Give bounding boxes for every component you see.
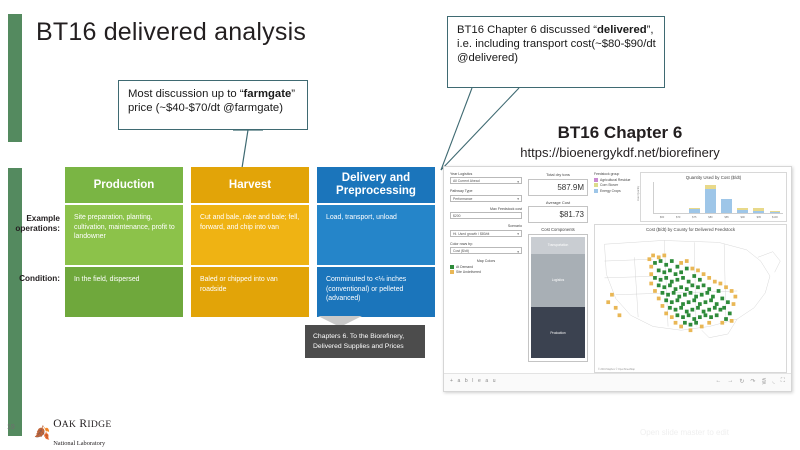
cost-segment-logistics: Logistics — [531, 254, 585, 308]
kpi-title-average-cost: Average Cost — [528, 200, 588, 205]
control-value-max-feedstock-cost: $200 — [453, 214, 461, 218]
bar-$75[interactable]: $75 — [689, 208, 700, 213]
farmgate-callout-pre: Most discussion up to “ — [128, 88, 244, 100]
slide-master-note: Open slide master to edit — [640, 428, 729, 437]
bar-chart-title: Quantity Used by Cost ($/dt) — [641, 173, 786, 180]
cell-delivery-operations: Load, transport, unload — [317, 205, 435, 265]
column-harvest: Harvest Cut and bale, rake and bale; fel… — [191, 167, 309, 317]
cost-segment-label-logistics: Logistics — [552, 278, 564, 282]
cell-production-operations: Site preparation, planting, cultivation,… — [65, 205, 183, 265]
cost-segment-transportation: Transportation — [531, 237, 585, 254]
map-graphic — [597, 233, 784, 343]
feedstock-legend: Feedstock group Agricultural Residue Cor… — [594, 172, 636, 193]
bar-segment-bottom — [753, 211, 764, 213]
kpi-value-total-dry-tons: 587.9M — [528, 179, 588, 196]
quantity-used-by-cost-chart[interactable]: Quantity Used by Cost ($/dt) Used Quanti… — [640, 172, 787, 222]
bar-$80[interactable]: $80 — [705, 185, 716, 213]
leaf-icon: 🍂 — [34, 426, 50, 439]
bar-chart-plot: $60$70$75$80$85$90$95$100 — [653, 182, 783, 214]
dashboard-kpi-column: Total dry tons 587.9M Average Cost $81.7… — [528, 172, 588, 362]
map-title: Cost ($/dt) by County for Delivered Feed… — [595, 225, 786, 232]
bar-$90[interactable]: $90 — [737, 208, 748, 213]
cell-harvest-operations: Cut and bale, rake and bale; fell, forwa… — [191, 205, 309, 265]
feedstock-legend-item-3[interactable]: Energy Crops — [594, 189, 636, 193]
map-color-label-at-demand: At Demand — [456, 265, 473, 269]
feedstock-legend-label-2: Corn Stover — [600, 183, 618, 187]
undo-icon[interactable]: ← — [715, 378, 721, 385]
feedstock-legend-label-3: Energy Crops — [600, 189, 621, 193]
chevron-down-icon: ▾ — [517, 197, 519, 201]
tableau-logo: + a b l e a u — [450, 378, 497, 384]
color-swatch-blue — [594, 189, 598, 193]
cost-components-title: Cost Components — [528, 227, 588, 232]
control-value-scenario: Hi. Used growth / $80/dt — [453, 232, 489, 236]
dashboard-toolbar[interactable]: ← → ↻ ↷ ⋚ ◟ ⛶ — [715, 378, 785, 385]
map-attribution: © 2019 Mapbox © OpenStreetMap — [598, 368, 635, 371]
feedstock-legend-title: Feedstock group — [594, 172, 636, 176]
bar-xtick-label: $100 — [770, 216, 781, 219]
fullscreen-icon[interactable]: ⛶ — [781, 378, 785, 385]
map-color-item-at-demand: At Demand — [450, 265, 522, 269]
color-swatch-purple — [594, 178, 598, 182]
redo-icon[interactable]: → — [727, 378, 733, 385]
share-icon[interactable]: ⋚ — [761, 378, 766, 385]
farmgate-callout: Most discussion up to “farmgate” price (… — [118, 80, 308, 130]
bar-segment-bottom — [705, 189, 716, 213]
accent-bar-top — [8, 14, 22, 142]
bar-xtick-label: $70 — [673, 216, 684, 219]
map-color-label-site-undelivered: Site Undelivered — [456, 270, 481, 274]
control-label-color-rows-by: Color rows by: — [450, 242, 522, 246]
chevron-down-icon: ▾ — [517, 232, 519, 236]
column-header-delivery: Delivery and Preprocessing — [317, 167, 435, 203]
dashboard-body: Year Logistics All Current Ahead ▾ Pathw… — [448, 170, 787, 373]
cell-harvest-condition: Baled or chipped into van roadside — [191, 267, 309, 317]
control-label-max-feedstock-cost: Max Feedstock cost — [450, 207, 522, 211]
control-label-year-logistics: Year Logistics — [450, 172, 522, 176]
dashboard-footer: + a b l e a u ← → ↻ ↷ ⋚ ◟ ⛶ — [444, 373, 791, 391]
color-swatch-yellow — [594, 183, 598, 187]
color-swatch-orange — [450, 270, 454, 274]
row-label-condition: Condition: — [4, 274, 60, 284]
control-pathway-type[interactable]: Performance ▾ — [450, 195, 522, 202]
revert-icon[interactable]: ↻ — [739, 378, 744, 385]
bar-xtick-label: $75 — [689, 216, 700, 219]
bar-xtick-label: $60 — [657, 216, 668, 219]
farmgate-callout-bold: farmgate — [244, 88, 292, 100]
control-max-feedstock-cost[interactable]: $200 — [450, 212, 522, 219]
chapter-note-box: Chapters 6. To the Biorefinery, Delivere… — [305, 325, 425, 358]
delivered-callout-bold: delivered — [597, 24, 647, 36]
logo-subtitle: National Laboratory — [53, 440, 105, 447]
column-header-production: Production — [65, 167, 183, 203]
bar-xtick-label: $80 — [705, 216, 716, 219]
cost-components-chart: Transportation Logistics Production — [528, 234, 588, 362]
feedstock-legend-item-2[interactable]: Corn Stover — [594, 183, 636, 187]
bar-segment-bottom — [737, 210, 748, 213]
kpi-title-total-dry-tons: Total dry tons — [528, 172, 588, 177]
download-icon[interactable]: ◟ — [772, 378, 774, 385]
oak-ridge-logo: 🍂 OAK RIDGE National Laboratory — [34, 414, 111, 450]
control-scenario[interactable]: Hi. Used growth / $80/dt ▾ — [450, 230, 522, 237]
control-label-scenario: Scenario — [450, 224, 522, 228]
color-swatch-green — [450, 265, 454, 269]
control-color-rows-by[interactable]: Cost ($/dt) ▾ — [450, 247, 522, 254]
slide-number: 19 — [7, 424, 15, 431]
control-value-year-logistics: All Current Ahead — [453, 179, 480, 183]
bar-xtick-label: $85 — [721, 216, 732, 219]
delivered-callout-pre: BT16 Chapter 6 discussed “ — [457, 24, 597, 36]
cost-segment-production: Production — [531, 307, 585, 358]
county-cost-map[interactable]: Cost ($/dt) by County for Delivered Feed… — [594, 224, 787, 373]
row-label-operations: Example operations: — [4, 214, 60, 234]
bar-$100[interactable]: $100 — [770, 211, 781, 213]
tableau-dashboard[interactable]: Year Logistics All Current Ahead ▾ Pathw… — [443, 166, 792, 392]
feedstock-legend-label-1: Agricultural Residue — [600, 178, 630, 182]
bar-chart-ylabel: Used Quantity — [637, 186, 640, 201]
delivered-callout: BT16 Chapter 6 discussed “delivered”, i.… — [447, 16, 665, 88]
bar-segment-bottom — [689, 209, 700, 213]
control-label-pathway-type: Pathway Type — [450, 189, 522, 193]
page-title: BT16 delivered analysis — [36, 18, 306, 47]
bar-$95[interactable]: $95 — [753, 208, 764, 213]
bar-segment-bottom — [721, 199, 732, 213]
bar-$85[interactable]: $85 — [721, 199, 732, 213]
chapter-url[interactable]: https://bioenergykdf.net/biorefinery — [440, 145, 800, 160]
dashboard-controls: Year Logistics All Current Ahead ▾ Pathw… — [450, 172, 522, 274]
control-value-color-rows-by: Cost ($/dt) — [453, 249, 469, 253]
chevron-down-icon: ▾ — [517, 180, 519, 184]
logo-title: OAK RIDGE — [53, 418, 111, 430]
chapter-heading: BT16 Chapter 6 — [440, 123, 800, 143]
control-year-logistics[interactable]: All Current Ahead ▾ — [450, 177, 522, 184]
feedstock-legend-item-1[interactable]: Agricultural Residue — [594, 178, 636, 182]
chevron-down-icon: ▾ — [517, 250, 519, 254]
cost-segment-label-transportation: Transportation — [548, 243, 568, 247]
cell-production-condition: In the field, dispersed — [65, 267, 183, 317]
cost-segment-label-production: Production — [550, 331, 565, 335]
refresh-icon[interactable]: ↷ — [750, 378, 755, 385]
column-production: Production Site preparation, planting, c… — [65, 167, 183, 317]
value-chain-table: Production Site preparation, planting, c… — [65, 167, 435, 317]
bar-xtick-label: $90 — [737, 216, 748, 219]
column-header-harvest: Harvest — [191, 167, 309, 203]
bar-xtick-label: $95 — [753, 216, 764, 219]
map-color-item-site-undelivered: Site Undelivered — [450, 270, 522, 274]
accent-bar-bottom — [8, 168, 22, 436]
column-delivery: Delivery and Preprocessing Load, transpo… — [317, 167, 435, 317]
kpi-value-average-cost: $81.73 — [528, 206, 588, 223]
map-colors-title: Map Colors — [450, 259, 522, 263]
control-value-pathway-type: Performance — [453, 197, 472, 201]
slide-canvas: BT16 delivered analysis Most discussion … — [0, 0, 800, 450]
bar-segment-bottom — [770, 212, 781, 213]
cell-delivery-condition: Comminuted to <⅛ inches (conventional) o… — [317, 267, 435, 317]
